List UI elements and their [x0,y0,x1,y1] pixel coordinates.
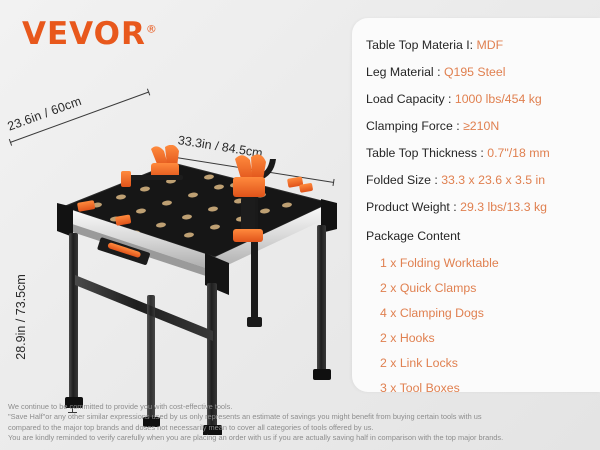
spec-row-leg-material: Leg Material : Q195 Steel [366,59,594,86]
specification-card: Table Top Materia I: MDF Leg Material : … [352,18,600,392]
disclaimer-line: "Save Half"or any other similar expressi… [8,412,594,423]
package-content-heading: Package Content [366,221,594,251]
spec-row-table-top-thickness: Table Top Thickness : 0.7"/18 mm [366,140,594,167]
spec-value: 33.3 x 23.6 x 3.5 in [441,173,545,187]
spec-value: 0.7"/18 mm [487,146,549,160]
brand-name: VEVOR [22,16,146,52]
product-info-page: VEVOR® 23.6in / 60cm 33.3in / 84.5cm 28.… [0,0,600,450]
product-photo: 23.6in / 60cm 33.3in / 84.5cm 28.9in / 7… [0,60,350,390]
workbench-illustration [55,145,340,435]
spec-row-folded-size: Folded Size : 33.3 x 23.6 x 3.5 in [366,167,594,194]
width-dimension-label: 23.6in / 60cm [6,66,161,134]
package-item: 3 x Tool Boxes [366,376,594,401]
spec-label: Clamping Force : [366,119,460,133]
spec-row-product-weight: Product Weight : 29.3 lbs/13.3 kg [366,194,594,221]
disclaimer-text: We continue to be committed to provide y… [8,402,594,444]
spec-label: Load Capacity : [366,92,451,106]
spec-row-load-capacity: Load Capacity : 1000 lbs/454 kg [366,86,594,113]
disclaimer-line: You are kindly reminded to verify carefu… [8,433,594,444]
spec-row-clamping-force: Clamping Force : ≥210N [366,113,594,140]
disclaimer-line: We continue to be committed to provide y… [8,402,594,413]
package-item: 1 x Folding Worktable [366,251,594,276]
disclaimer-line: compared to the major top brands and dos… [8,423,594,434]
spec-value: 1000 lbs/454 kg [455,92,542,106]
package-item: 2 x Quick Clamps [366,276,594,301]
package-item: 2 x Link Locks [366,351,594,376]
spec-list: Table Top Materia I: MDF Leg Material : … [366,32,594,401]
spec-value: 29.3 lbs/13.3 kg [460,200,547,214]
spec-label: Table Top Materia I: [366,38,473,52]
spec-label: Folded Size : [366,173,438,187]
spec-value: Q195 Steel [444,65,506,79]
spec-label: Table Top Thickness : [366,146,484,160]
spec-label: Product Weight : [366,200,457,214]
package-item: 2 x Hooks [366,326,594,351]
registered-trademark-icon: ® [146,23,158,36]
spec-value: MDF [477,38,504,52]
height-dimension-label: 28.9in / 73.5cm [14,247,28,387]
spec-label: Leg Material : [366,65,441,79]
spec-row-table-top-material: Table Top Materia I: MDF [366,32,594,59]
spec-value: ≥210N [463,119,499,133]
package-item: 4 x Clamping Dogs [366,301,594,326]
vevor-logo: VEVOR® [22,16,158,52]
